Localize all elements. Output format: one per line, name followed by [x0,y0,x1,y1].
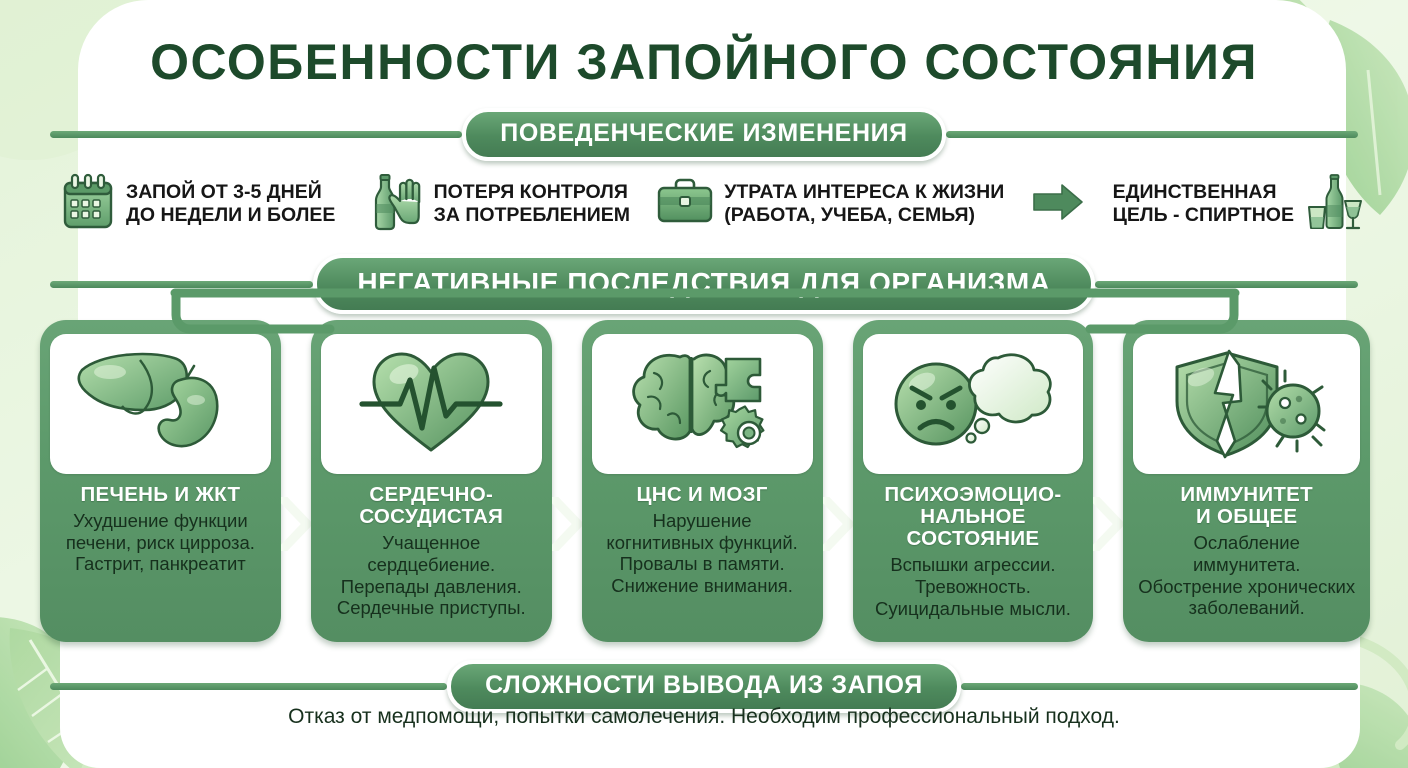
card-title: ЦНС И МОЗГ [637,484,768,506]
bottle-hand-icon [362,171,424,238]
card-connector-2 [552,320,582,642]
banner-rule-right [961,683,1358,690]
behavior-line1: ЕДИНСТВЕННАЯ [1113,181,1277,203]
card-body: Ослабление иммунитета. Обострение хронич… [1138,532,1355,619]
card-cardiovascular[interactable]: СЕРДЕЧНО- СОСУДИСТАЯ Учащенное сердцебие… [311,320,552,642]
bracket-connector [0,283,1408,343]
banner-rule-left [50,683,447,690]
calendar-icon [60,173,116,236]
card-psychoemotional[interactable]: ПСИХОЭМОЦИО- НАЛЬНОЕ СОСТОЯНИЕ Вспышки а… [853,320,1094,642]
behavior-item-only-goal: ЕДИНСТВЕННАЯ ЦЕЛЬ - СПИРТНОЕ [1113,171,1366,238]
card-body: Ухудшение функции печени, риск цирроза. … [66,510,255,575]
card-connector-1 [281,320,311,642]
liver-stomach-icon [70,348,250,460]
card-body: Вспышки агрессии. Тревожность. Суицидаль… [875,554,1071,619]
card-cns-brain[interactable]: ЦНС И МОЗГ Нарушение когнитивных функций… [582,320,823,642]
arrow-right-icon [1032,182,1084,227]
behavioral-items-row: ЗАПОЙ ОТ 3-5 ДНЕЙ ДО НЕДЕЛИ И БОЛЕЕ [60,163,1366,245]
card-title: ИММУНИТЕТ И ОБЩЕЕ [1180,484,1313,528]
briefcase-icon [656,177,714,232]
card-connector-3 [823,320,853,642]
chevron-right-icon [823,497,853,551]
behavior-line1: УТРАТА ИНТЕРЕСА К ЖИЗНИ [724,181,1004,203]
card-title: СЕРДЕЧНО- СОСУДИСТАЯ [359,484,503,528]
banner-rule-right [946,131,1358,138]
card-title: ПЕЧЕНЬ И ЖКТ [81,484,241,506]
behavior-line1: ЗАПОЙ ОТ 3-5 ДНЕЙ [126,181,322,203]
behavior-label: УТРАТА ИНТЕРЕСА К ЖИЗНИ (РАБОТА, УЧЕБА, … [724,181,1004,227]
card-title: ПСИХОЭМОЦИО- НАЛЬНОЕ СОСТОЯНИЕ [884,484,1061,550]
card-icon-container [1133,334,1360,474]
card-connector-4 [1093,320,1123,642]
card-immunity[interactable]: ИММУНИТЕТ И ОБЩЕЕ Ослабление иммунитета.… [1123,320,1370,642]
card-liver-gi[interactable]: ПЕЧЕНЬ И ЖКТ Ухудшение функции печени, р… [40,320,281,642]
chevron-right-icon [281,497,311,551]
behavior-label: ЗАПОЙ ОТ 3-5 ДНЕЙ ДО НЕДЕЛИ И БОЛЕЕ [126,181,335,227]
angry-face-thought-icon [888,348,1058,460]
footer-note: Отказ от медпомощи, попытки самолечения.… [0,705,1408,729]
card-body: Нарушение когнитивных функций. Провалы в… [606,510,797,597]
behavior-label: ЕДИНСТВЕННАЯ ЦЕЛЬ - СПИРТНОЕ [1113,181,1294,227]
behavior-item-loss-of-control: ПОТЕРЯ КОНТРОЛЯ ЗА ПОТРЕБЛЕНИЕМ [362,171,630,238]
behavioral-banner-row: ПОВЕДЕНЧЕСКИЕ ИЗМЕНЕНИЯ [50,108,1358,161]
behavior-line2: ЗА ПОТРЕБЛЕНИЕМ [434,204,630,226]
behavior-label: ПОТЕРЯ КОНТРОЛЯ ЗА ПОТРЕБЛЕНИЕМ [434,181,630,227]
behavior-line1: ПОТЕРЯ КОНТРОЛЯ [434,181,628,203]
chevron-right-icon [552,497,582,551]
bottle-glasses-icon [1304,171,1366,238]
behavior-line2: (РАБОТА, УЧЕБА, СЕМЬЯ) [724,204,975,226]
behavior-line2: ДО НЕДЕЛИ И БОЛЕЕ [126,204,335,226]
heart-pulse-icon [356,346,506,462]
consequence-cards-row: ПЕЧЕНЬ И ЖКТ Ухудшение функции печени, р… [40,320,1370,642]
card-icon-container [321,334,542,474]
broken-shield-virus-icon [1167,345,1327,463]
banner-rule-left [50,131,462,138]
card-icon-container [592,334,813,474]
card-icon-container [863,334,1084,474]
card-body: Учащенное сердцебиение. Перепады давлени… [337,532,526,619]
brain-gear-icon [622,345,782,463]
behavior-item-binge-duration: ЗАПОЙ ОТ 3-5 ДНЕЙ ДО НЕДЕЛИ И БОЛЕЕ [60,173,335,236]
behavior-line2: ЦЕЛЬ - СПИРТНОЕ [1113,204,1294,226]
behavior-item-loss-of-interest: УТРАТА ИНТЕРЕСА К ЖИЗНИ (РАБОТА, УЧЕБА, … [656,177,1004,232]
card-icon-container [50,334,271,474]
chevron-right-icon [1093,497,1123,551]
page-title: ОСОБЕННОСТИ ЗАПОЙНОГО СОСТОЯНИЯ [0,33,1408,91]
banner-behavioral-changes: ПОВЕДЕНЧЕСКИЕ ИЗМЕНЕНИЯ [462,108,945,161]
